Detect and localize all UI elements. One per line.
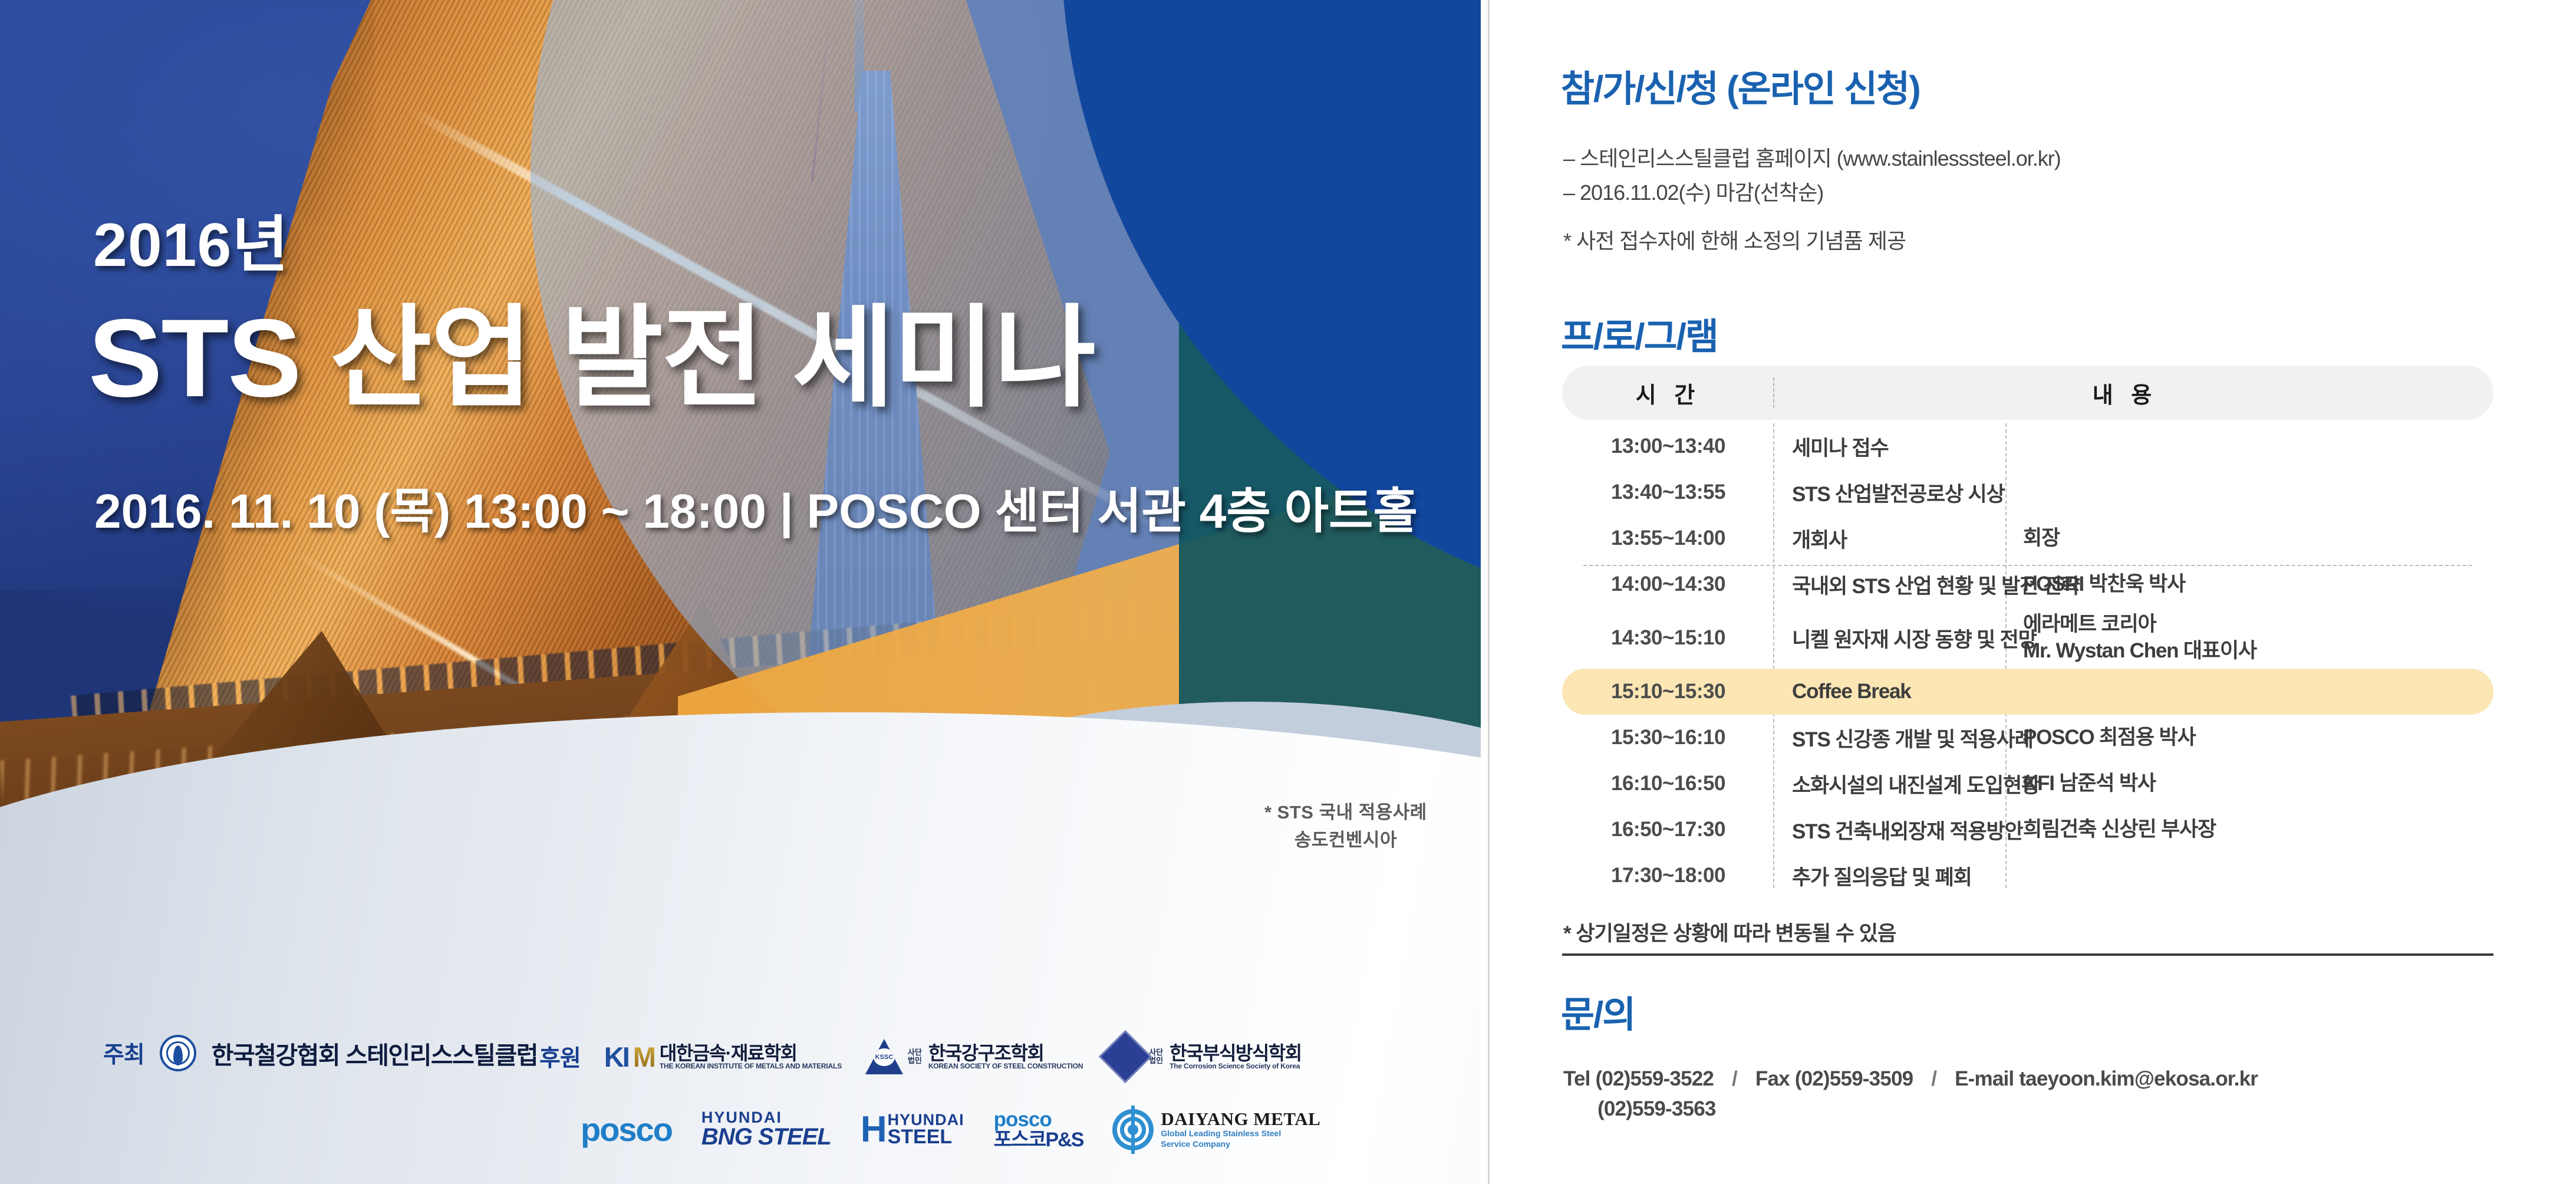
row-time: 16:50~17:30 (1562, 818, 1774, 841)
program-table: 시 간 내 용 13:00~13:40 세미나 접수 13:40~13:55 S… (1562, 366, 2493, 899)
row-time: 13:55~14:00 (1562, 527, 1774, 550)
table-row: 16:10~16:50 소화시설의 내진설계 도입현황 KFI 남준석 박사 (1562, 761, 2493, 807)
program-table-header: 시 간 내 용 (1562, 366, 2493, 420)
fax-value: (02)559-3509 (1795, 1067, 1913, 1090)
kssc-triangle-icon (865, 1039, 903, 1074)
pns-top-text: posco (994, 1109, 1083, 1130)
program-heading: 프/로/그/램 (1561, 307, 1718, 360)
apply-item: – 2016.11.02(수) 마감(선착순) (1563, 176, 2061, 210)
program-table-body: 13:00~13:40 세미나 접수 13:40~13:55 STS 산업발전공… (1562, 420, 2493, 899)
table-row: 13:00~13:40 세미나 접수 (1562, 423, 2493, 469)
seminar-poster: convensia 2016년 STS 산업 발전 세미나 2016. 11. … (0, 0, 2576, 1184)
logo-posco-pns: posco 포스코P&S (994, 1109, 1083, 1150)
table-row-coffee-break: 15:10~15:30 Coffee Break (1562, 669, 2493, 715)
fax-label: Fax (1755, 1067, 1790, 1090)
logo-daiyang-metal: DAIYANG METAL Global Leading Stainless S… (1112, 1109, 1320, 1150)
pns-bottom-text: 포스코P&S (994, 1130, 1083, 1150)
hyundai-h-icon: H (861, 1109, 884, 1150)
photo-caption-line2: 송도컨벤시아 (1264, 827, 1427, 854)
row-content: STS 건축내외장재 적용방안 (1774, 815, 2007, 845)
sponsor-row: 후원 KIM 대한금속·재료학회 THE KOREAN INSTITUTE OF… (539, 1038, 1302, 1076)
sponsor-logo-kssc: 사단법인 한국강구조학회 KOREAN SOCIETY OF STEEL CON… (865, 1039, 1083, 1074)
cssk-diamond-icon (1099, 1030, 1152, 1084)
row-content: 세미나 접수 (1774, 432, 2007, 462)
host-organization: 한국철강협회 스테인리스스틸클럽 (212, 1035, 538, 1071)
column-header-time: 시 간 (1562, 377, 1774, 409)
daiyang-tagline-1: Global Leading Stainless Steel (1161, 1129, 1320, 1139)
row-speaker: 희림건축 신상린 부사장 (2007, 817, 2493, 843)
table-row: 14:30~15:10 니켈 원자재 시장 동향 및 전망 에라메트 코리아 M… (1562, 607, 2493, 669)
apply-note: * 사전 접수자에 한해 소정의 기념품 제공 (1563, 224, 1906, 255)
tel-value: (02)559-3522 (1596, 1067, 1714, 1090)
contact-separator: / (1719, 1067, 1750, 1090)
row-time: 15:10~15:30 (1562, 680, 1774, 703)
table-row: 13:40~13:55 STS 산업발전공로상 시상 (1562, 469, 2493, 515)
logo-hyundai-steel: H HYUNDAI STEEL (861, 1109, 964, 1150)
panel-edge-strip (1481, 0, 1491, 1184)
contact-separator: / (1918, 1067, 1949, 1090)
program-note: * 상기일정은 상황에 따라 변동될 수 있음 (1563, 917, 1896, 947)
email-value[interactable]: taeyoon.kim@ekosa.or.kr (2019, 1067, 2258, 1090)
row-content: 개회사 (1774, 524, 2007, 554)
row-time: 16:10~16:50 (1562, 772, 1774, 795)
kosa-seal-icon (160, 1035, 196, 1071)
row-speaker: KFI 남준석 박사 (2007, 771, 2493, 797)
host-label: 주최 (103, 1037, 144, 1070)
hyundai-bottom-text: STEEL (888, 1127, 964, 1147)
table-row: 16:50~17:30 STS 건축내외장재 적용방안 희림건축 신상린 부사장 (1562, 807, 2493, 853)
row-content: Coffee Break (1774, 680, 2007, 703)
row-time: 13:00~13:40 (1562, 435, 1774, 458)
row-time: 13:40~13:55 (1562, 481, 1774, 504)
row-time: 14:30~15:10 (1562, 626, 1774, 650)
hero-datetime-venue: 2016. 11. 10 (목) 13:00 ~ 18:00 | POSCO 센… (94, 472, 1418, 542)
sponsor-label: 후원 (539, 1040, 581, 1073)
kim-flame-icon: M (633, 1041, 655, 1073)
kssc-korean-name: 한국강구조학회 (928, 1044, 1083, 1063)
panel-divider (1488, 0, 1490, 1184)
row-time: 17:30~18:00 (1562, 864, 1774, 887)
contact-block: Tel (02)559-3522 / Fax (02)559-3509 / E-… (1563, 1064, 2258, 1124)
table-bottom-rule (1562, 953, 2493, 956)
host-row: 주최 한국철강협회 스테인리스스틸클럽 (103, 1035, 538, 1071)
header-column-divider (1773, 377, 1774, 408)
table-row: 15:30~16:10 STS 신강종 개발 및 적용사례 POSCO 최점용 … (1562, 715, 2493, 761)
contact-primary-line: Tel (02)559-3522 / Fax (02)559-3509 / E-… (1563, 1064, 2258, 1094)
daiyang-target-icon (1112, 1109, 1154, 1150)
photo-caption-line1: * STS 국내 적용사례 (1264, 799, 1427, 827)
row-content: STS 산업발전공로상 시상 (1774, 478, 2007, 508)
kssc-english-name: KOREAN SOCIETY OF STEEL CONSTRUCTION (928, 1063, 1083, 1070)
kim-mark-icon: KI (604, 1041, 628, 1073)
apply-heading: 참/가/신/청 (온라인 신청) (1561, 59, 1920, 112)
apply-item: – 스테인리스스틸클럽 홈페이지 (www.stainlesssteel.or.… (1563, 142, 2061, 176)
tel-label: Tel (1563, 1067, 1590, 1090)
info-panel: 참/가/신/청 (온라인 신청) – 스테인리스스틸클럽 홈페이지 (www.s… (1491, 0, 2576, 1184)
row-time: 14:00~14:30 (1562, 573, 1774, 596)
bng-bottom-text: BNG STEEL (701, 1126, 831, 1148)
kim-english-name: THE KOREAN INSTITUTE OF METALS AND MATER… (660, 1063, 842, 1070)
apply-list: – 스테인리스스틸클럽 홈페이지 (www.stainlesssteel.or.… (1563, 142, 2061, 211)
cssk-korean-name: 한국부식방식학회 (1170, 1044, 1302, 1063)
logo-posco: posco (581, 1110, 672, 1149)
row-content: 니켈 원자재 시장 동향 및 전망 (1774, 623, 2007, 653)
photo-caption: * STS 국내 적용사례 송도컨벤시아 (1264, 799, 1427, 854)
contact-heading: 문/의 (1561, 985, 1635, 1038)
kssc-corporate-badge: 사단법인 (908, 1048, 922, 1064)
hero-title: STS 산업 발전 세미나 (88, 268, 1095, 429)
row-content: STS 신강종 개발 및 적용사례 (1774, 723, 2007, 753)
table-row: 17:30~18:00 추가 질의응답 및 폐회 (1562, 853, 2493, 899)
column-header-content: 내 용 (1774, 377, 2493, 409)
sponsor-logo-kim: KIM 대한금속·재료학회 THE KOREAN INSTITUTE OF ME… (604, 1041, 842, 1073)
row-content: 추가 질의응답 및 폐회 (1774, 861, 2007, 891)
row-content: 국내외 STS 산업 현황 및 발전 전략 (1774, 570, 2007, 600)
logo-bng-steel: HYUNDAI BNG STEEL (701, 1110, 831, 1148)
tel-secondary-value: (02)559-3563 (1563, 1094, 2258, 1124)
sponsor-logo-cssk: 사단법인 한국부식방식학회 The Corrosion Science Soci… (1106, 1038, 1301, 1076)
daiyang-tagline-2: Service Company (1161, 1139, 1320, 1150)
table-row: 14:00~14:30 국내외 STS 산업 현황 및 발전 전략 POSRI … (1562, 561, 2493, 607)
row-time: 15:30~16:10 (1562, 726, 1774, 749)
cssk-english-name: The Corrosion Science Society of Korea (1170, 1063, 1302, 1070)
corporate-sponsor-row: posco HYUNDAI BNG STEEL H HYUNDAI STEEL … (581, 1109, 1320, 1150)
daiyang-name: DAIYANG METAL (1161, 1110, 1320, 1129)
email-label: E-mail (1955, 1067, 2014, 1090)
row-speaker: POSRI 박찬욱 박사 (2007, 571, 2493, 598)
row-speaker: 에라메트 코리아 Mr. Wystan Chen 대표이사 (2007, 611, 2493, 665)
row-speaker: 회장 (2007, 525, 2493, 552)
hero-visual-panel: convensia 2016년 STS 산업 발전 세미나 2016. 11. … (0, 0, 1491, 1184)
kim-korean-name: 대한금속·재료학회 (660, 1044, 842, 1063)
table-row: 13:55~14:00 개회사 회장 (1562, 515, 2493, 561)
row-speaker: POSCO 최점용 박사 (2007, 725, 2493, 751)
row-content: 소화시설의 내진설계 도입현황 (1774, 769, 2007, 799)
